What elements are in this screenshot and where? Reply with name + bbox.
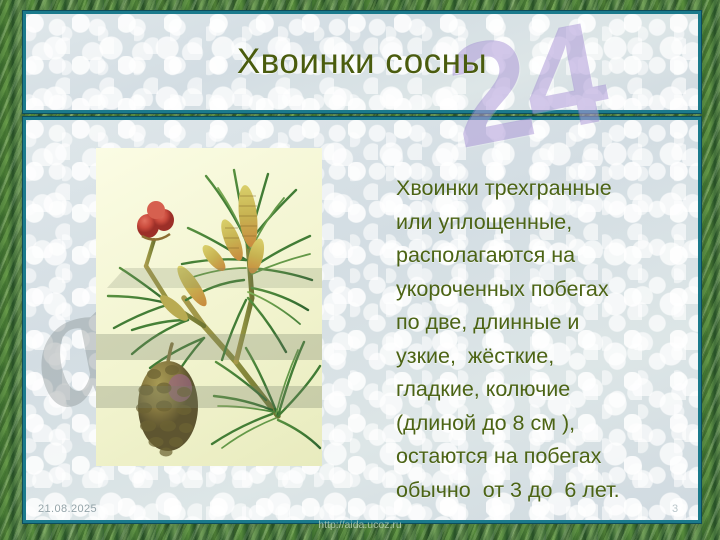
body-line: обычно от 3 до 6 лет.: [396, 474, 696, 508]
body-line: укороченных побегах: [396, 273, 696, 307]
body-line: (длиной до 8 см ),: [396, 407, 696, 441]
footer-date: 21.08.2025: [38, 503, 97, 515]
body-text: Хвоинки трехгранные или уплощенные, расп…: [396, 172, 696, 507]
pine-branch-drawing: [96, 148, 322, 466]
footer-url: http://aida.ucoz.ru: [0, 519, 720, 531]
body-line: остаются на побегах: [396, 440, 696, 474]
slide-number: 3: [672, 503, 678, 515]
body-line: по две, длинные и: [396, 306, 696, 340]
body-line: или уплощенные,: [396, 206, 696, 240]
female-cone-red: [137, 201, 174, 266]
pine-illustration: [96, 148, 322, 466]
body-line: узкие, жёсткие,: [396, 340, 696, 374]
presentation-slide: 24 aida Хвоинки сосны: [0, 0, 720, 540]
page-title: Хвоинки сосны: [26, 14, 698, 110]
body-line: гладкие, колючие: [396, 373, 696, 407]
body-line: располагаются на: [396, 239, 696, 273]
body-line: Хвоинки трехгранные: [396, 172, 696, 206]
